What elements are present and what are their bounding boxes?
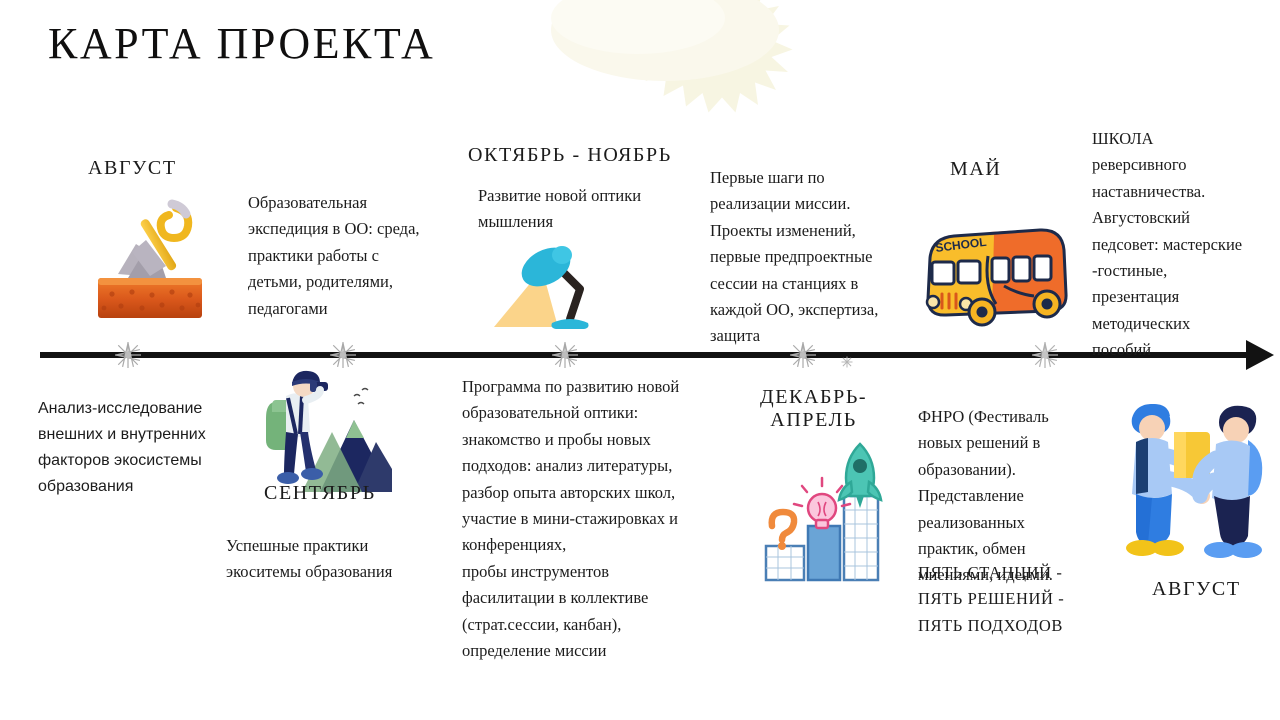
text-successful-practices: Успешные практики экоситемы образования: [226, 533, 441, 586]
timeline-axis: [40, 352, 1252, 358]
month-label-august-last: АВГУСТ: [1152, 578, 1241, 601]
month-label-may: МАЙ: [950, 158, 1001, 181]
text-first-steps: Первые шаги по реализации миссии. Проект…: [710, 165, 925, 350]
shovel-digging-icon: [88, 196, 212, 326]
month-label-october-november: ОКТЯБРЬ - НОЯБРЬ: [468, 144, 672, 167]
text-expedition: Образовательная экспедиция в ОО: среда, …: [248, 190, 458, 322]
hiker-binoculars-icon: [258, 366, 392, 492]
month-label-september: СЕНТЯБРЬ: [264, 482, 376, 505]
text-reverse-school: ШКОЛА реверсивного наставничества. Авгус…: [1092, 126, 1267, 364]
school-bus-icon: SCHOOL: [916, 216, 1074, 334]
page-title: КАРТА ПРОЕКТА: [48, 18, 435, 69]
two-people-exchange-icon: [1112, 402, 1268, 570]
text-analysis: Анализ-исследование внешних и внутренних…: [38, 396, 253, 500]
text-fnro-slogan: ПЯТЬ СТАНЦИЙ - ПЯТЬ РЕШЕНИЙ - ПЯТЬ ПОДХО…: [918, 560, 1108, 639]
growth-chart-rocket-icon: [752, 442, 888, 584]
month-label-august-first: АВГУСТ: [88, 157, 177, 180]
text-program: Программа по развитию новой образователь…: [462, 374, 710, 664]
timeline-marker-5: [842, 357, 853, 368]
text-optics: Развитие новой оптики мышления: [478, 183, 698, 236]
project-roadmap-slide: КАРТА ПРОЕКТА: [0, 0, 1280, 720]
desk-lamp-icon: [484, 243, 608, 335]
starburst-decoration: [548, 0, 848, 114]
month-label-december-april: ДЕКАБРЬ- АПРЕЛЬ: [760, 386, 867, 432]
